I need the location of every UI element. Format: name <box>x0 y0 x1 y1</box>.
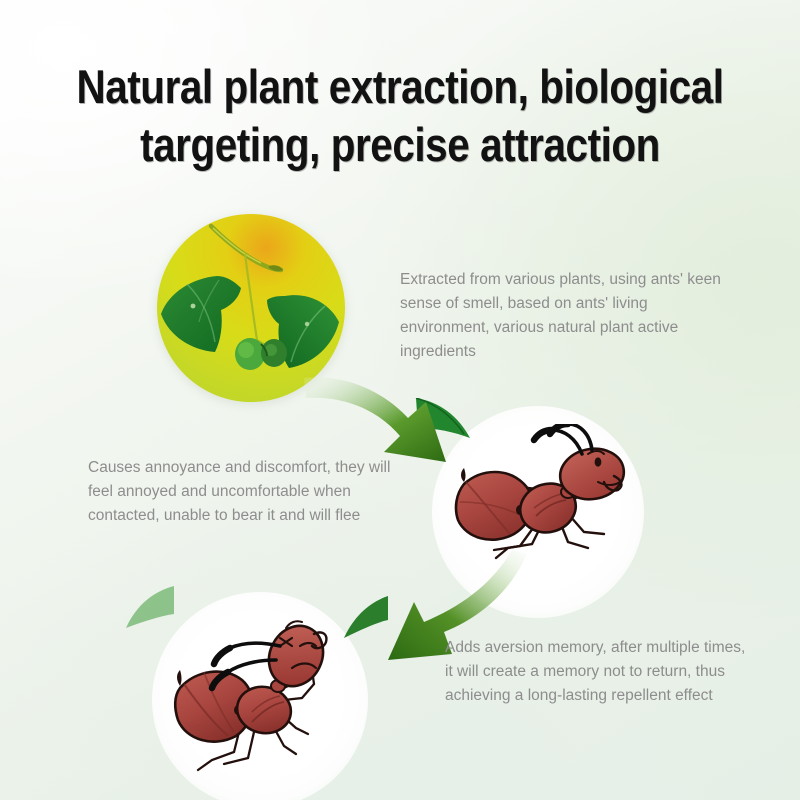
ant-smiling-illustration <box>448 424 628 599</box>
step-text-annoyance: Causes annoyance and discomfort, they wi… <box>88 456 408 528</box>
ant-distressed-illustration <box>168 612 348 790</box>
title-line-2: targeting, precise attraction <box>56 116 744 174</box>
leaf-fragment-icon <box>118 584 174 642</box>
poster-title: Natural plant extraction, biological tar… <box>0 58 800 174</box>
step-text-memory: Adds aversion memory, after multiple tim… <box>445 636 755 708</box>
title-line-1: Natural plant extraction, biological <box>56 58 744 116</box>
step-text-extraction: Extracted from various plants, using ant… <box>400 268 730 364</box>
infographic-poster: Natural plant extraction, biological tar… <box>0 0 800 800</box>
